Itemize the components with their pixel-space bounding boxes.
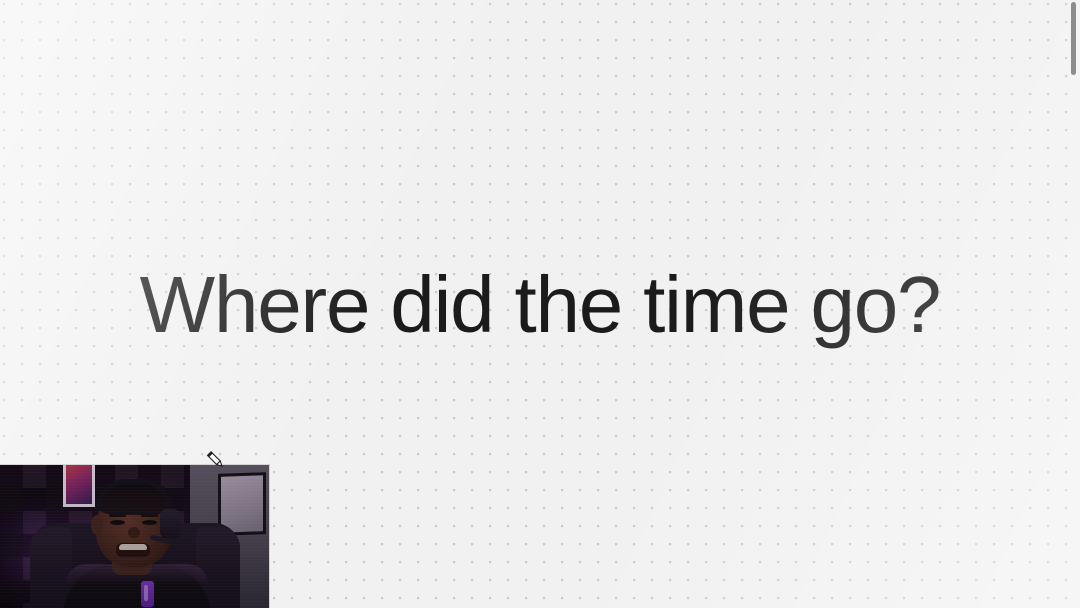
vertical-scrollbar-thumb[interactable] — [1071, 2, 1076, 75]
whiteboard-canvas[interactable]: Where did the time go? — [0, 0, 1080, 608]
slide-headline-container: Where did the time go? — [0, 262, 1080, 348]
vertical-scrollbar-track[interactable] — [1069, 0, 1077, 608]
pen-tool-cursor — [203, 448, 229, 474]
webcam-scanlines — [0, 465, 269, 608]
webcam-overlay[interactable] — [0, 465, 269, 608]
page-title[interactable]: Where did the time go? — [140, 262, 941, 348]
